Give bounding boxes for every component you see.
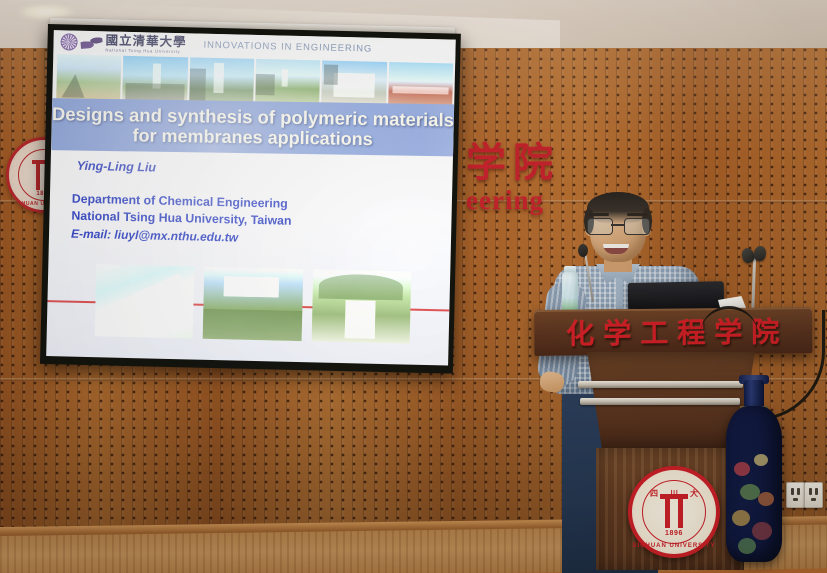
nthu-emblem-icon	[60, 34, 77, 51]
nthu-swoosh-icon	[80, 37, 103, 50]
campus-photo	[95, 264, 195, 338]
bottom-photo-strip	[95, 264, 412, 343]
slide-author: Ying-Ling Liu	[77, 159, 157, 175]
campus-photo	[203, 267, 303, 341]
projection-screen: 國立清華大學 National Tsing Hua University INN…	[40, 24, 461, 374]
podium-rail	[580, 398, 740, 405]
glasses-bridge	[611, 224, 624, 226]
slide-title-line1: Designs and synthesis of polymeric mater…	[52, 104, 454, 130]
slide-title-band: Designs and synthesis of polymeric mater…	[51, 98, 454, 156]
slide-title-line2: for membranes applications	[132, 127, 372, 150]
vase-body	[726, 406, 782, 562]
nthu-name-chinese: 國立清華大學	[105, 34, 186, 48]
campus-photo	[123, 56, 188, 102]
campus-photo	[311, 269, 411, 343]
wall-power-outlet[interactable]	[804, 482, 823, 508]
campus-photo	[189, 57, 254, 103]
podium-university-seal: 四川大 1896 SICHUAN UNIVERSITY	[628, 466, 720, 558]
microphone-head-icon	[578, 244, 588, 257]
campus-photo	[255, 59, 320, 105]
decorative-vase	[726, 380, 782, 562]
seal-year: 1896	[632, 530, 716, 537]
glasses-lens	[624, 218, 650, 235]
speaker-eyebrow	[627, 213, 647, 216]
speaker-eyebrow	[589, 213, 609, 216]
nthu-name-english: National Tsing Hua University	[105, 48, 186, 54]
podium-rail	[578, 381, 743, 388]
slide-affiliation: Department of Chemical Engineering Natio…	[71, 191, 292, 248]
presentation-slide: 國立清華大學 National Tsing Hua University INN…	[46, 30, 456, 365]
campus-photo	[388, 62, 453, 108]
seal-gate-icon	[660, 494, 688, 528]
campus-photo	[56, 54, 121, 100]
nthu-logo: 國立清華大學 National Tsing Hua University	[60, 33, 186, 54]
campus-photo	[321, 60, 386, 106]
slide-tagline: INNOVATIONS IN ENGINEERING	[203, 40, 372, 55]
glasses-lens	[587, 218, 613, 235]
seal-name: SICHUAN UNIVERSITY	[632, 543, 716, 549]
lecture-hall-photo: 1896 SICHUAN UNIVERSITY 学院 eering 國立清華大學…	[0, 0, 827, 573]
wall-power-outlet[interactable]	[786, 482, 805, 508]
speaker-glasses	[587, 218, 649, 234]
